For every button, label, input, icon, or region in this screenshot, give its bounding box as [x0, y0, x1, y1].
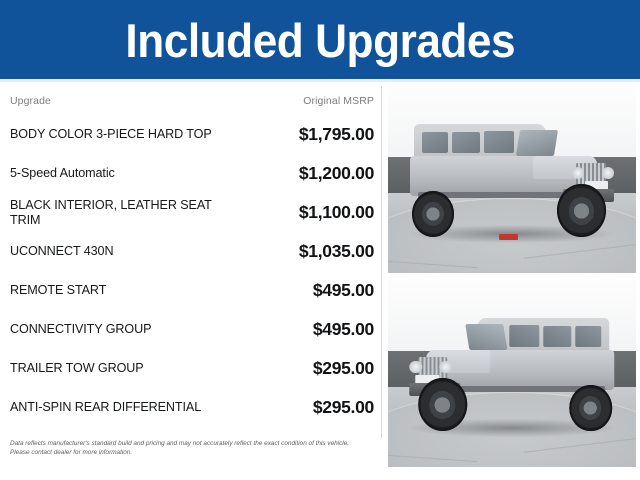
vehicle-silhouette [405, 316, 618, 432]
table-row: TRAILER TOW GROUP $295.00 [0, 349, 382, 388]
upgrade-name: BLACK INTERIOR, LEATHER SEAT TRIM [10, 198, 242, 228]
upgrade-name: UCONNECT 430N [10, 244, 242, 259]
upgrade-price: $295.00 [313, 397, 374, 418]
table-row: CONNECTIVITY GROUP $495.00 [0, 310, 382, 349]
disclaimer-text: Data reflects manufacturer's standard bu… [10, 439, 365, 457]
vehicle-photo-column [388, 82, 636, 480]
vehicle-wheel [557, 184, 606, 237]
vehicle-window [452, 132, 480, 153]
table-row: BLACK INTERIOR, LEATHER SEAT TRIM $1,100… [0, 193, 382, 232]
table-body: BODY COLOR 3-PIECE HARD TOP $1,795.00 5-… [0, 115, 382, 427]
upgrade-name: ANTI-SPIN REAR DIFFERENTIAL [10, 400, 242, 415]
vehicle-headlight [440, 361, 453, 374]
table-row: ANTI-SPIN REAR DIFFERENTIAL $295.00 [0, 388, 382, 427]
upgrade-name: TRAILER TOW GROUP [10, 361, 242, 376]
upgrade-name: CONNECTIVITY GROUP [10, 322, 242, 337]
table-row: UCONNECT 430N $1,035.00 [0, 232, 382, 271]
vehicle-windshield [465, 324, 507, 350]
vehicle-photo-front-left-three-quarter[interactable] [388, 280, 636, 467]
upgrade-price: $495.00 [313, 319, 374, 340]
vehicle-windshield [516, 130, 558, 156]
vehicle-window [510, 325, 540, 347]
included-upgrades-panel: Included Upgrades Upgrade Original MSRP … [0, 0, 640, 480]
column-header-upgrade: Upgrade [10, 95, 51, 107]
table-row: REMOTE START $495.00 [0, 271, 382, 310]
page-title: Included Upgrades [125, 17, 515, 64]
vehicle-headlight [602, 167, 615, 180]
vehicle-photo-front-right-three-quarter[interactable] [388, 86, 636, 273]
upgrade-price: $1,200.00 [299, 163, 374, 184]
upgrade-price: $295.00 [313, 358, 374, 379]
upgrade-price: $1,100.00 [299, 202, 374, 223]
upgrade-name: 5-Speed Automatic [10, 166, 242, 181]
table-row: 5-Speed Automatic $1,200.00 [0, 154, 382, 193]
upgrade-name: BODY COLOR 3-PIECE HARD TOP [10, 127, 242, 142]
vehicle-tow-hook [499, 234, 518, 240]
table-column-headers: Upgrade Original MSRP [0, 95, 382, 111]
upgrade-price: $1,035.00 [299, 241, 374, 262]
vehicle-window [576, 326, 602, 347]
column-header-msrp: Original MSRP [303, 95, 374, 107]
vehicle-silhouette [405, 122, 618, 238]
upgrade-price: $1,795.00 [299, 124, 374, 145]
vehicle-window [484, 131, 514, 153]
content-area: Upgrade Original MSRP BODY COLOR 3-PIECE… [0, 82, 640, 480]
upgrade-name: REMOTE START [10, 283, 242, 298]
disclaimer-line-2: Please contact dealer for more informati… [10, 448, 365, 457]
header-banner: Included Upgrades [0, 0, 640, 79]
vehicle-wheel [418, 378, 467, 431]
upgrades-table: Upgrade Original MSRP BODY COLOR 3-PIECE… [0, 82, 382, 480]
disclaimer-line-1: Data reflects manufacturer's standard bu… [10, 439, 365, 448]
vehicle-window [544, 326, 572, 347]
table-right-divider [381, 86, 382, 438]
vehicle-window [422, 132, 448, 153]
table-row: BODY COLOR 3-PIECE HARD TOP $1,795.00 [0, 115, 382, 154]
vehicle-wheel [570, 385, 613, 431]
upgrade-price: $495.00 [313, 280, 374, 301]
